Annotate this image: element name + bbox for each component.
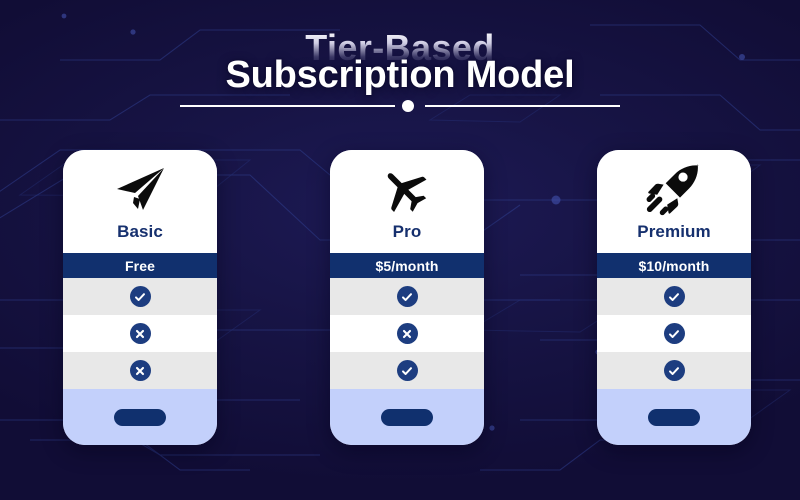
feature-row — [330, 352, 484, 389]
card-header: Premium — [597, 150, 751, 253]
feature-row — [330, 278, 484, 315]
plan-name: Basic — [117, 222, 163, 242]
feature-row — [597, 315, 751, 352]
check-icon — [397, 286, 418, 307]
plan-price: $5/month — [330, 253, 484, 278]
check-icon — [664, 360, 685, 381]
cta-button[interactable] — [648, 409, 700, 426]
title-block: Tier-Based Subscription Model — [0, 28, 800, 82]
check-icon — [130, 286, 151, 307]
plan-name: Premium — [637, 222, 710, 242]
feature-row — [330, 315, 484, 352]
pricing-card-group: Basic Free — [0, 150, 800, 450]
divider-rule-right — [425, 105, 620, 107]
divider-dot-icon — [402, 100, 414, 112]
slide-canvas: Tier-Based Subscription Model Basic F — [0, 0, 800, 500]
card-footer — [330, 389, 484, 445]
pricing-card-premium[interactable]: Premium $10/month — [597, 150, 751, 445]
pricing-card-pro[interactable]: Pro $5/month — [330, 150, 484, 445]
cross-icon — [130, 360, 151, 381]
page-title: Subscription Model — [0, 54, 800, 96]
plan-price: Free — [63, 253, 217, 278]
pricing-card-basic[interactable]: Basic Free — [63, 150, 217, 445]
cta-button[interactable] — [114, 409, 166, 426]
feature-row — [597, 278, 751, 315]
plan-name: Pro — [393, 222, 422, 242]
feature-row — [63, 278, 217, 315]
card-footer — [597, 389, 751, 445]
plan-price: $10/month — [597, 253, 751, 278]
card-header: Pro — [330, 150, 484, 253]
divider-rule-left — [180, 105, 395, 107]
cross-icon — [130, 323, 151, 344]
airplane-icon — [380, 162, 434, 218]
feature-row — [63, 352, 217, 389]
card-header: Basic — [63, 150, 217, 253]
title-divider — [180, 100, 620, 112]
rocket-icon — [646, 162, 702, 218]
cta-button[interactable] — [381, 409, 433, 426]
card-footer — [63, 389, 217, 445]
check-icon — [664, 323, 685, 344]
feature-row — [63, 315, 217, 352]
check-icon — [664, 286, 685, 307]
paper-plane-icon — [113, 162, 167, 218]
check-icon — [397, 360, 418, 381]
cross-icon — [397, 323, 418, 344]
feature-row — [597, 352, 751, 389]
